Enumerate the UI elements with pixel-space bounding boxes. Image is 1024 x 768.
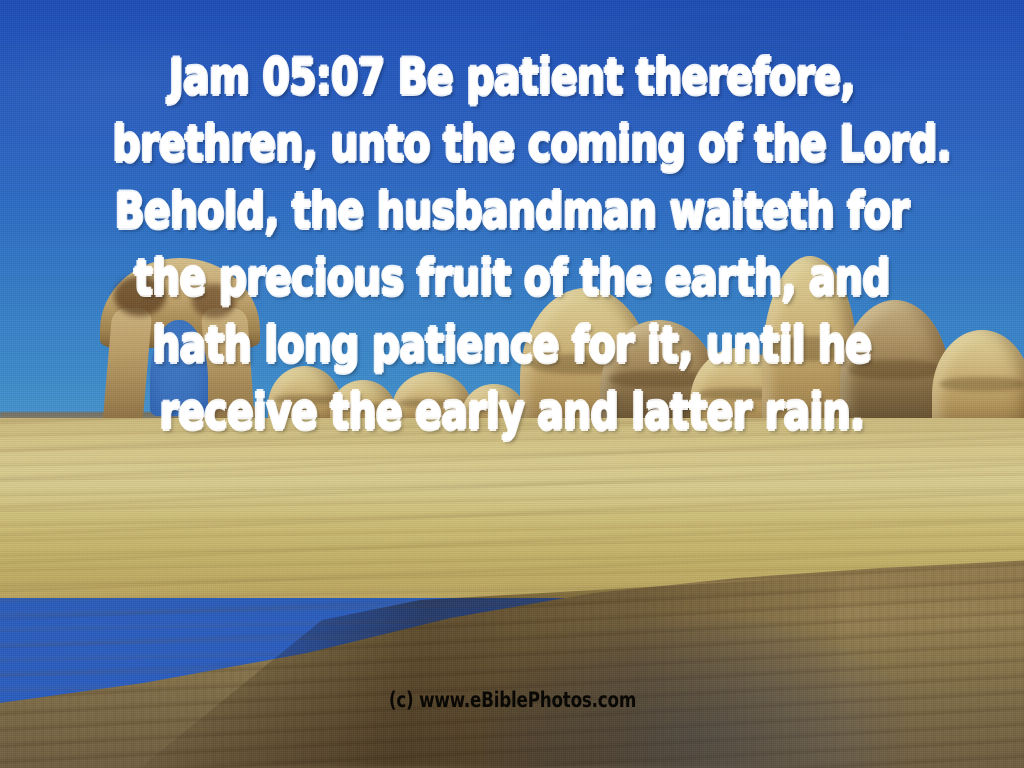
verse-image-canvas: Jam 05:07 Be patient therefore, brethren… [0,0,1024,768]
arch-shadow [192,284,236,318]
arch-shadow [114,276,166,316]
landscape-photo [0,0,1024,768]
